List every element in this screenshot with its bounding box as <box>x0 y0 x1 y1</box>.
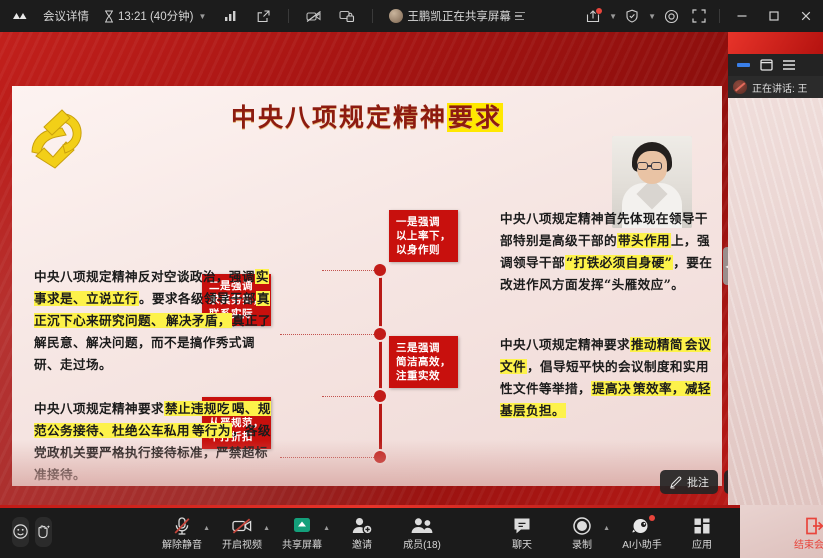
person-add-icon <box>351 516 373 537</box>
chip-1: 一是强调 以上率下， 以身作则 <box>389 210 458 262</box>
timeline-spine <box>379 268 382 464</box>
fullscreen-icon[interactable] <box>686 5 712 27</box>
raise-hand-button[interactable] <box>35 517 52 547</box>
screen-lock-icon[interactable] <box>334 5 360 27</box>
divider <box>719 9 720 23</box>
list-lines-icon[interactable] <box>515 12 525 21</box>
highlighted-text: 解决矛盾， <box>165 313 232 328</box>
bottom-item-label: 成员(18) <box>403 540 441 552</box>
bottom-item-label: 开启视频 <box>222 540 262 552</box>
grid-apps-icon <box>692 516 712 537</box>
chevron-down-icon[interactable]: ▼ <box>609 12 617 21</box>
mic-muted-icon <box>733 80 747 94</box>
slide-red-frame: 中央八项规定精神要求 <box>0 32 734 505</box>
emoji-smiley-icon <box>12 523 29 540</box>
people-icon <box>410 516 434 537</box>
text-run: 强调 <box>229 269 255 284</box>
chip-3-line-3: 注重实效 <box>396 369 451 383</box>
highlighted-text: “打铁必须自身硬” <box>565 255 673 270</box>
chip-1-line-1: 一是强调 <box>396 215 451 229</box>
annotate-button[interactable]: 批注 <box>660 470 718 494</box>
bottom-item-record[interactable]: ▲ 录制 <box>552 512 612 552</box>
bottom-item-label: 邀请 <box>352 540 372 552</box>
chat-bubble-icon <box>512 516 532 537</box>
emoji-reaction-button[interactable] <box>12 517 29 547</box>
bottom-controls-group: ▲ 解除静音 ▲ 开启视频 ▲ 共享屏幕 <box>152 512 823 552</box>
title-main: 中央八项规定精神 <box>231 103 447 132</box>
upload-badge <box>596 8 602 14</box>
title-highlight: 要求 <box>447 103 503 132</box>
right-panel-background <box>728 92 823 505</box>
timeline-node-1 <box>374 264 386 276</box>
hourglass-icon <box>104 10 114 23</box>
slide-content-panel: 中央八项规定精神要求 <box>12 86 722 486</box>
shared-screen-stage[interactable]: 中央八项规定精神要求 <box>0 32 823 505</box>
panel-minimize-icon[interactable] <box>737 62 751 68</box>
bottom-item-members[interactable]: 成员(18) <box>392 512 452 552</box>
tencent-meeting-window: 会议详情 13:21 (40分钟) ▼ <box>0 0 823 558</box>
bottom-item-label: 聊天 <box>512 540 532 552</box>
text-run: 应”。 <box>651 277 685 292</box>
end-meeting-button[interactable]: 结束会议 <box>784 512 823 552</box>
panel-restore-icon[interactable] <box>760 59 773 71</box>
sharing-notice-label: 王鹏凯正在共享屏幕 <box>407 8 511 24</box>
paragraph-left-top: 中央八项规定精神反对空谈政治，强调实事求是、立说立行。要求各级领导干部真正沉下心… <box>34 266 274 376</box>
highlighted-text: 等行为 <box>191 423 232 438</box>
bottom-item-invite[interactable]: 邀请 <box>332 512 392 552</box>
sharing-notice: 王鹏凯正在共享屏幕 <box>385 5 529 27</box>
panel-window-controls <box>728 54 823 76</box>
timeline-node-4 <box>374 451 386 463</box>
timeline-dash-4 <box>280 457 374 458</box>
raise-hand-icon <box>35 523 52 540</box>
timeline-node-3 <box>374 390 386 402</box>
chip-3-line-1: 三是强调 <box>396 341 451 355</box>
text-run: 上， <box>671 233 697 248</box>
timeline-dash-2 <box>280 334 374 335</box>
presenter-thumb-strip[interactable] <box>728 32 823 54</box>
bottom-item-label: AI小助手 <box>622 540 661 552</box>
paragraph-left-bottom: 中央八项规定精神要求禁止违规吃喝、规范公务接待、杜绝公车私用等行为，各级党政机关… <box>34 398 274 486</box>
pen-icon <box>669 476 682 489</box>
record-ring-icon[interactable] <box>658 5 684 27</box>
bottom-toolbar: ▲ 解除静音 ▲ 开启视频 ▲ 共享屏幕 <box>0 505 740 558</box>
meeting-timer[interactable]: 13:21 (40分钟) ▼ <box>100 5 210 27</box>
avatar <box>389 9 403 23</box>
annotate-label: 批注 <box>687 474 709 490</box>
exit-door-icon <box>803 516 823 537</box>
highlighted-text: 带头作用 <box>617 233 671 248</box>
timeline-dash-3 <box>322 396 374 397</box>
highlighted-text: 推动精简 <box>630 337 684 352</box>
chevron-up-icon[interactable]: ▲ <box>323 525 330 532</box>
upload-box-icon[interactable] <box>580 5 606 27</box>
bottom-accent-line <box>0 505 740 508</box>
bottom-item-label: 应用 <box>692 540 712 552</box>
divider <box>288 9 289 23</box>
right-side-panel: 正在讲话: 王 <box>728 32 823 92</box>
shield-icon[interactable] <box>619 5 645 27</box>
text-run: 中央八项规定精神要求 <box>500 337 630 352</box>
text-run: 中央八项规定精神首先体现在领导 <box>500 211 695 226</box>
meeting-details-label: 会议详情 <box>43 8 89 24</box>
app-logo <box>8 7 32 25</box>
bottom-item-apps[interactable]: 应用 <box>672 512 732 552</box>
open-external-icon[interactable] <box>250 5 276 27</box>
speaking-label: 正在讲话: 王 <box>752 80 808 95</box>
chevron-down-icon[interactable]: ▼ <box>648 12 656 21</box>
chevron-up-icon[interactable]: ▲ <box>263 525 270 532</box>
bottom-item-share-screen[interactable]: ▲ 共享屏幕 <box>272 512 332 552</box>
chip-3-line-2: 简洁高效， <box>396 355 451 369</box>
bottom-item-start-video[interactable]: ▲ 开启视频 <box>212 512 272 552</box>
text-run: ， <box>673 255 686 270</box>
bottom-item-unmute[interactable]: ▲ 解除静音 <box>152 512 212 552</box>
text-run: ，倡导短平快的会议制 <box>527 359 657 374</box>
bottom-item-chat[interactable]: 聊天 <box>492 512 552 552</box>
timeline-node-2 <box>374 328 386 340</box>
mountain-logo-icon <box>12 10 28 22</box>
video-person-glasses-right <box>651 162 662 170</box>
text-run: 接待标准，严禁超标准接待。 <box>34 445 268 482</box>
mic-muted-icon <box>172 516 192 537</box>
ai-badge <box>649 515 655 521</box>
chip-1-line-3: 以身作则 <box>396 243 451 257</box>
chip-1-line-2: 以上率下， <box>396 229 451 243</box>
top-toolbar: 会议详情 13:21 (40分钟) ▼ <box>0 0 823 32</box>
panel-menu-icon[interactable] <box>782 59 796 71</box>
bottom-item-ai-assistant[interactable]: AI小助手 <box>612 512 672 552</box>
maximize-icon[interactable] <box>759 0 789 32</box>
text-run: 。要求各 <box>139 291 191 306</box>
share-screen-icon <box>290 516 314 537</box>
network-signal-icon[interactable] <box>217 5 243 27</box>
divider <box>372 9 373 23</box>
chevron-up-icon[interactable]: ▲ <box>603 525 610 532</box>
meeting-details-button[interactable]: 会议详情 <box>39 5 93 27</box>
record-ring-icon <box>572 516 592 537</box>
timeline-dash-1 <box>322 270 374 271</box>
minimize-icon[interactable] <box>727 0 757 32</box>
bottom-item-label: 共享屏幕 <box>282 540 322 552</box>
bottom-item-label: 录制 <box>572 540 592 552</box>
chevron-up-icon[interactable]: ▲ <box>203 525 210 532</box>
close-icon[interactable] <box>791 0 821 32</box>
highlighted-text: 禁止违规吃 <box>164 401 231 416</box>
meeting-timer-label: 13:21 (40分钟) <box>118 8 193 24</box>
chevron-down-icon[interactable]: ▼ <box>198 12 206 21</box>
video-person-glasses-bridge <box>648 165 651 167</box>
camera-off-icon[interactable] <box>301 5 327 27</box>
camera-off-icon <box>231 516 253 537</box>
text-run: 中央八项规定精神反对空谈政治， <box>34 269 229 284</box>
chip-3: 三是强调 简洁高效， 注重实效 <box>389 336 458 388</box>
speaking-indicator: 正在讲话: 王 <box>728 76 823 98</box>
video-person-glasses-left <box>637 162 648 170</box>
text-run: 中央八项规定精神要求 <box>34 401 164 416</box>
text-run: 级领导干部 <box>191 291 256 306</box>
end-meeting-label: 结束会议 <box>794 540 823 552</box>
paragraph-right-top: 中央八项规定精神首先体现在领导干部特别是高级干部的带头作用上，强调领导干部“打铁… <box>500 208 715 296</box>
highlighted-text: 提高决 <box>591 381 632 396</box>
paragraph-right-bottom: 中央八项规定精神要求推动精简会议文件，倡导短平快的会议制度和实用性文件等举措，提… <box>500 334 715 422</box>
bottom-item-label: 解除静音 <box>162 540 202 552</box>
page-title: 中央八项规定精神要求 <box>12 98 722 134</box>
